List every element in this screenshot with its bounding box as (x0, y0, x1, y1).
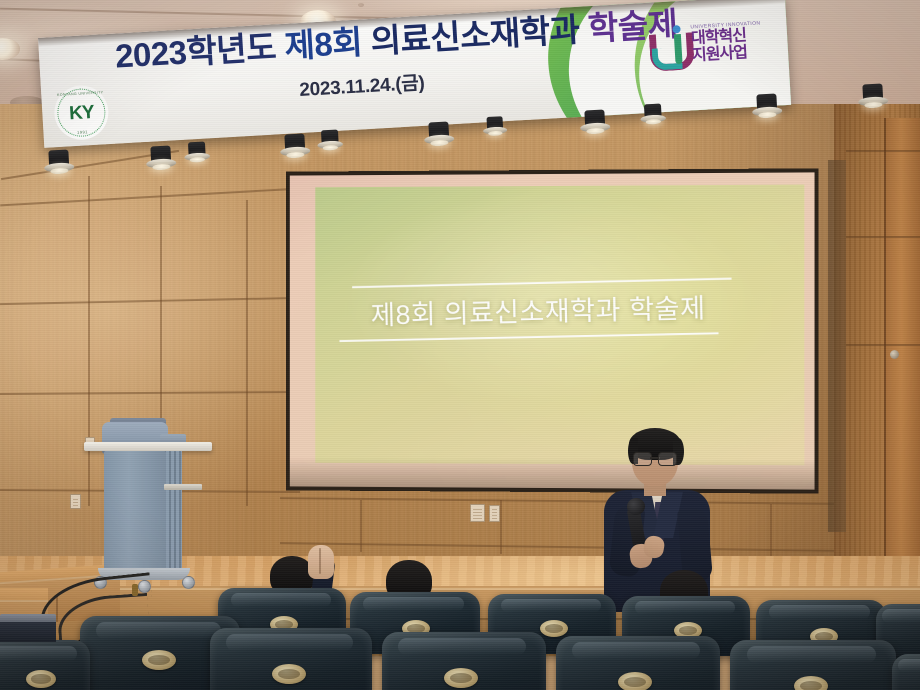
track-spotlight (43, 149, 74, 177)
ky-logo-mark: KY (54, 101, 109, 126)
wall-seam (846, 150, 920, 152)
lectern-caster (182, 576, 195, 589)
seat-emblem (272, 664, 306, 684)
track-spotlight (640, 103, 667, 126)
spotlight-glow (864, 102, 882, 109)
side-door[interactable] (884, 118, 920, 558)
track-spotlight (857, 83, 888, 111)
banner-date: 2023.11.24.(금) (299, 68, 426, 102)
innovation-logo-korean: 대학혁신지원사업 (691, 28, 748, 65)
wall-seam (360, 500, 362, 552)
banner-year: 2023학년도 (114, 28, 277, 74)
wall-seam (246, 200, 248, 506)
track-spotlight (317, 129, 344, 152)
wall-outlet[interactable] (70, 494, 81, 509)
track-spotlight (184, 141, 211, 164)
seat-emblem (26, 670, 56, 688)
screen-shadow (290, 457, 815, 490)
wall-recess (828, 160, 846, 532)
auditorium-seat[interactable] (556, 636, 720, 690)
spotlight-glow (190, 157, 206, 163)
spotlight-glow (646, 119, 662, 125)
ky-university-logo: KONYANG UNIVERSITY KY 1991 (53, 84, 110, 141)
seat-emblem (444, 668, 478, 688)
lectern-worktop (84, 442, 212, 451)
track-spotlight (279, 133, 310, 161)
auditorium-seat[interactable] (210, 628, 372, 690)
screen-surface: 제8회 의료신소재학과 학술제 (290, 172, 815, 489)
door-knob-icon[interactable] (890, 350, 899, 359)
wall-seam (846, 344, 920, 346)
seat-emblem (540, 620, 568, 637)
spotlight-glow (286, 152, 304, 159)
slide-title-block: 제8회 의료신소재학과 학술제 (338, 277, 738, 342)
track-spotlight (423, 121, 454, 149)
uj-mark-icon (648, 25, 690, 71)
ceiling-vent (358, 3, 364, 7)
glasses-lens (658, 452, 677, 466)
auditorium-seat[interactable] (0, 640, 90, 690)
innovation-logo-line2: 지원사업 (692, 44, 748, 64)
auditorium-seat[interactable] (730, 640, 896, 690)
spotlight-glow (488, 131, 503, 137)
glasses-lens (633, 452, 652, 466)
spotlight-glow (50, 168, 68, 175)
wall-seam (500, 500, 502, 554)
lectern-body (104, 451, 166, 569)
cable-connector (132, 584, 138, 596)
auditorium-seat[interactable] (892, 654, 920, 690)
spotlight-glow (758, 112, 776, 119)
slide-title: 제8회 의료신소재학과 학술제 (338, 279, 738, 337)
spotlight-glow (323, 145, 339, 151)
glasses-icon (633, 452, 677, 464)
wall-outlet[interactable] (470, 504, 485, 522)
mobile-lectern[interactable] (92, 418, 208, 600)
auditorium-seat[interactable] (382, 632, 546, 690)
spotlight-glow (586, 128, 604, 135)
innovation-program-logo: UNIVERSITY INNOVATION 대학혁신지원사업 (648, 10, 770, 83)
side-table-shadow (0, 622, 56, 642)
lectern-side-ribs (166, 451, 182, 569)
spotlight-glow (430, 140, 448, 147)
wall-seam (770, 504, 772, 558)
spotlight-glow (152, 164, 170, 171)
wall-outlet[interactable] (489, 505, 500, 522)
track-spotlight (145, 145, 176, 173)
auditorium-photo: 제8회 의료신소재학과 학술제 KONYANG UNIVERSITY KY 19… (0, 0, 920, 690)
banner-edition: 제8회 (283, 23, 363, 64)
lectern-shelf (164, 484, 202, 490)
wall-seam (846, 236, 920, 238)
track-spotlight (482, 116, 507, 138)
seat-emblem (142, 650, 176, 670)
track-spotlight (751, 93, 782, 121)
projection-screen: 제8회 의료신소재학과 학술제 (286, 168, 819, 493)
seat-emblem (618, 672, 652, 690)
track-spotlight (579, 109, 610, 137)
seat-emblem (794, 676, 828, 690)
wall-seam (88, 176, 90, 506)
clapping-hands (308, 545, 334, 579)
